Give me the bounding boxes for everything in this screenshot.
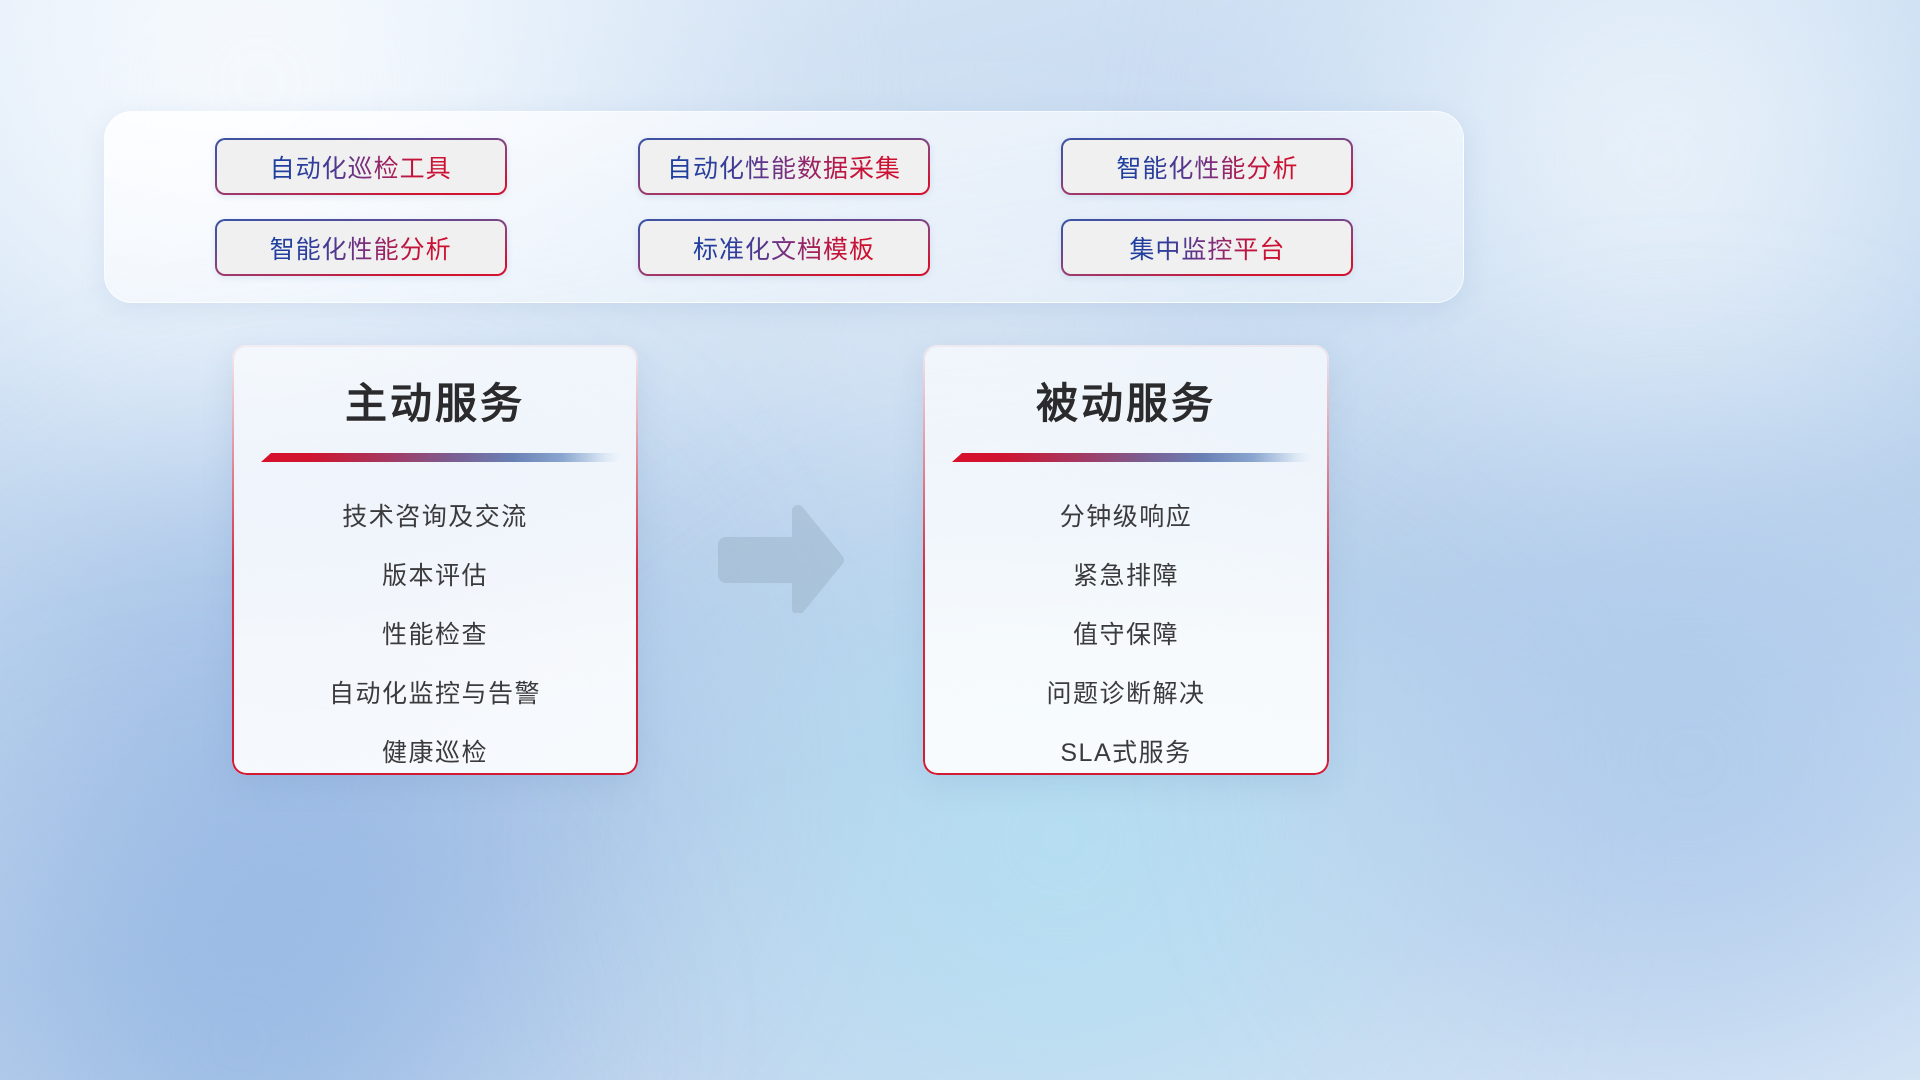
background-blob-right-mid (1300, 380, 1920, 1080)
capability-tag-label: 智能化性能分析 (1116, 149, 1298, 185)
list-item[interactable]: SLA式服务 (1060, 724, 1191, 775)
capability-tag-centralized-monitoring-platform[interactable]: 集中监控平台 (1061, 219, 1353, 276)
capability-tag-label: 自动化性能数据采集 (667, 149, 901, 185)
list-item[interactable]: 值守保障 (1073, 606, 1179, 665)
reactive-service-card[interactable]: 被动服务 分钟级响应 紧急排障 值守保障 问题诊断解决 SLA式服务 (923, 345, 1329, 775)
capability-tag-surface: 标准化文档模板 (640, 221, 928, 274)
capability-tag-standardized-doc-template[interactable]: 标准化文档模板 (638, 219, 930, 276)
capability-tag-surface: 自动化性能数据采集 (640, 140, 928, 193)
list-item[interactable]: 版本评估 (382, 547, 488, 606)
capability-tag-intelligent-perf-analysis-bottom[interactable]: 智能化性能分析 (215, 219, 507, 276)
capability-tag-label: 智能化性能分析 (270, 230, 452, 266)
capability-tag-surface: 集中监控平台 (1063, 221, 1351, 274)
capability-tag-automated-perf-data-collection[interactable]: 自动化性能数据采集 (638, 138, 930, 195)
card-title: 主动服务 (232, 370, 638, 431)
capability-tag-surface: 自动化巡检工具 (217, 140, 505, 193)
capability-tags-panel: 自动化巡检工具 自动化性能数据采集 智能化性能分析 智能化性能分析 标准化文档模… (104, 111, 1464, 303)
list-item[interactable]: 性能检查 (382, 606, 488, 665)
capability-tag-intelligent-perf-analysis-top[interactable]: 智能化性能分析 (1061, 138, 1353, 195)
capability-tag-label: 自动化巡检工具 (270, 149, 452, 185)
list-item[interactable]: 技术咨询及交流 (342, 488, 528, 547)
card-title-divider (952, 453, 1311, 462)
list-item[interactable]: 问题诊断解决 (1046, 665, 1205, 724)
arrow-right-icon (716, 505, 848, 613)
list-item[interactable]: 紧急排障 (1073, 547, 1179, 606)
service-item-list: 分钟级响应 紧急排障 值守保障 问题诊断解决 SLA式服务 (923, 488, 1329, 775)
list-item[interactable]: 健康巡检 (382, 724, 488, 775)
list-item[interactable]: 分钟级响应 (1060, 488, 1193, 547)
capability-tag-surface: 智能化性能分析 (217, 221, 505, 274)
proactive-service-card[interactable]: 主动服务 技术咨询及交流 版本评估 性能检查 自动化监控与告警 健康巡检 (232, 345, 638, 775)
card-title: 被动服务 (923, 370, 1329, 431)
card-title-divider (261, 453, 620, 462)
capability-tag-label: 集中监控平台 (1129, 230, 1285, 266)
capability-tag-label: 标准化文档模板 (693, 230, 875, 266)
capability-tag-automated-inspection-tool[interactable]: 自动化巡检工具 (215, 138, 507, 195)
list-item[interactable]: 自动化监控与告警 (329, 665, 541, 724)
capability-tag-surface: 智能化性能分析 (1063, 140, 1351, 193)
service-item-list: 技术咨询及交流 版本评估 性能检查 自动化监控与告警 健康巡检 (232, 488, 638, 775)
